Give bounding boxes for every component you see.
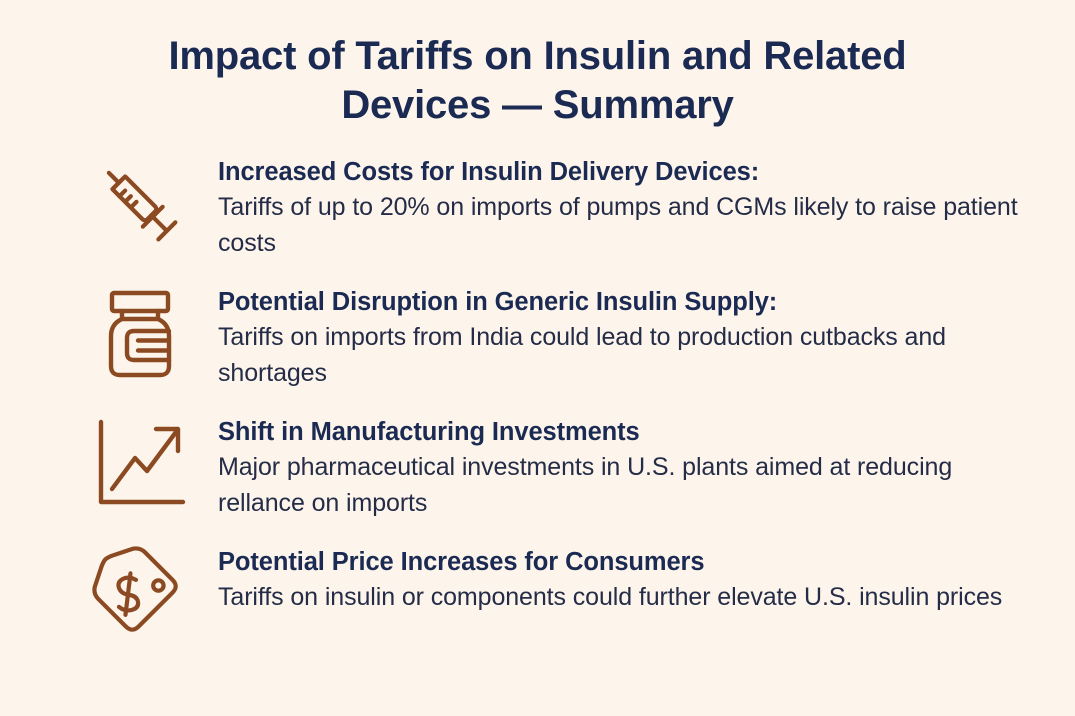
list-item: Increased Costs for Insulin Delivery Dev… [0, 152, 1075, 274]
list-item-body: Major pharmaceutical investments in U.S.… [218, 448, 1035, 522]
medicine-vial-icon [84, 282, 196, 386]
list-item-heading: Increased Costs for Insulin Delivery Dev… [218, 156, 1035, 188]
infographic-root: Impact of Tariffs on Insulin and Related… [0, 0, 1075, 716]
list-item-heading: Potential Disruption in Generic Insulin … [218, 286, 1035, 318]
title-block: Impact of Tariffs on Insulin and Related… [0, 0, 1075, 130]
list-item: Shift in Manufacturing Investments Major… [0, 412, 1075, 534]
list-item-text: Increased Costs for Insulin Delivery Dev… [196, 152, 1035, 262]
list-item-heading: Shift in Manufacturing Investments [218, 416, 1035, 448]
syringe-icon [84, 152, 196, 256]
list-item: Potential Disruption in Generic Insulin … [0, 282, 1075, 404]
rising-chart-icon [84, 412, 196, 516]
list-item-heading: Potential Price Increases for Consumers [218, 546, 1035, 578]
list-item-text: Potential Price Increases for Consumers … [196, 542, 1035, 615]
list-item: Potential Price Increases for Consumers … [0, 542, 1075, 664]
price-tag-icon [84, 542, 196, 646]
list-item-body: Tariffs on insulin or components could f… [218, 578, 1035, 615]
page-title: Impact of Tariffs on Insulin and Related… [95, 32, 980, 130]
summary-points-list: Increased Costs for Insulin Delivery Dev… [0, 130, 1075, 664]
list-item-body: Tariffs on imports from India could lead… [218, 318, 1035, 392]
list-item-text: Potential Disruption in Generic Insulin … [196, 282, 1035, 392]
list-item-text: Shift in Manufacturing Investments Major… [196, 412, 1035, 522]
list-item-body: Tariffs of up to 20% on imports of pumps… [218, 188, 1035, 262]
